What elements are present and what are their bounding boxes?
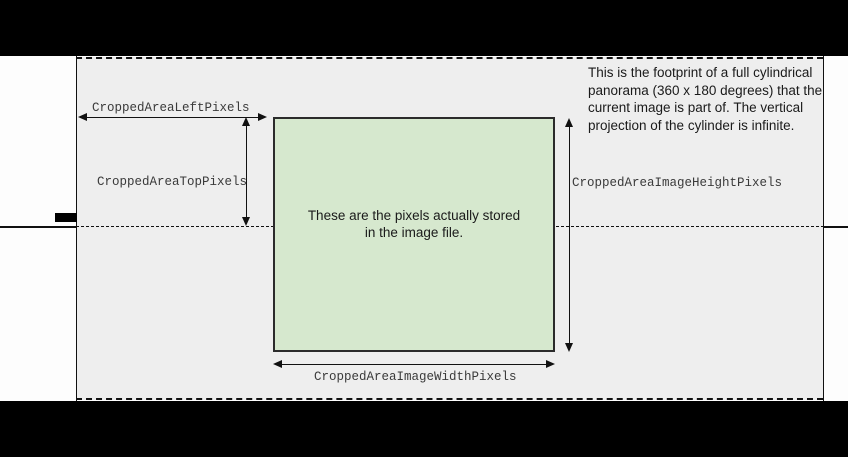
stored-image-region: These are the pixels actually stored in …: [273, 117, 555, 352]
arrow-image-height-line: [569, 122, 570, 348]
equator-line-right-segment: [823, 226, 848, 228]
equator-line-left-segment: [0, 226, 77, 228]
footprint-bottom-edge: [76, 398, 823, 400]
arrow-image-height-head-end-icon: [565, 343, 573, 352]
footprint-left-edge: [76, 56, 77, 401]
arrow-top-pixels-line: [246, 121, 247, 222]
panorama-description-text: This is the footprint of a full cylindri…: [588, 64, 828, 134]
stored-image-caption: These are the pixels actually stored in …: [275, 207, 553, 241]
arrow-left-pixels-head-start-icon: [78, 113, 87, 121]
arrow-image-width-head-end-icon: [546, 360, 555, 368]
horizon-marker-block: [55, 213, 77, 222]
arrow-left-pixels-head-end-icon: [258, 113, 267, 121]
arrow-image-width-head-start-icon: [273, 360, 282, 368]
arrow-image-height-head-start-icon: [565, 118, 573, 127]
label-cropped-area-left-pixels: CroppedAreaLeftPixels: [92, 101, 250, 115]
diagram-canvas: These are the pixels actually stored in …: [0, 0, 848, 457]
label-cropped-area-image-height-pixels: CroppedAreaImageHeightPixels: [572, 176, 782, 190]
arrow-image-width-line: [277, 364, 551, 365]
footprint-top-edge: [76, 57, 823, 59]
arrow-left-pixels-line: [80, 117, 264, 118]
label-cropped-area-top-pixels: CroppedAreaTopPixels: [97, 175, 247, 189]
arrow-top-pixels-head-end-icon: [242, 217, 250, 226]
arrow-top-pixels-head-start-icon: [242, 117, 250, 126]
label-cropped-area-image-width-pixels: CroppedAreaImageWidthPixels: [314, 370, 517, 384]
